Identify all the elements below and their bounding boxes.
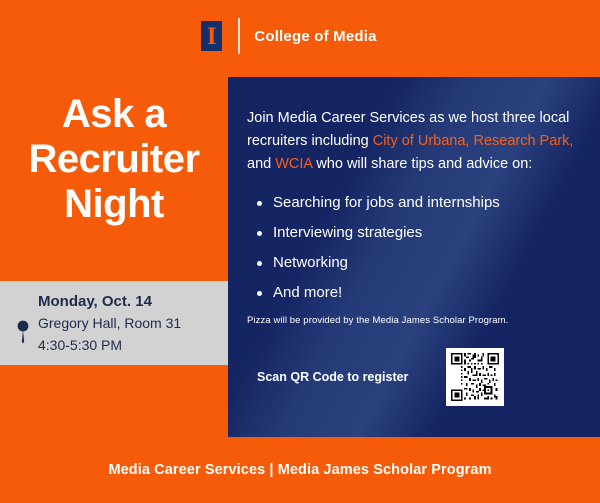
- qr-row: Scan QR Code to register: [247, 348, 580, 406]
- map-pin-icon: [12, 302, 34, 344]
- list-item: Interviewing strategies: [273, 225, 580, 240]
- intro-part-2: and: [247, 156, 275, 172]
- recruiter-highlight-2: WCIA: [275, 156, 312, 172]
- page-title: Ask aRecruiterNight: [0, 92, 228, 226]
- header-divider: [238, 18, 240, 54]
- footer-text: Media Career Services | Media James Scho…: [108, 462, 491, 478]
- headline-line-1: Ask a: [0, 92, 228, 137]
- event-details-box: Monday, Oct. 14 Gregory Hall, Room 31 4:…: [0, 281, 228, 365]
- scan-qr-label: Scan QR Code to register: [257, 370, 408, 384]
- list-item: And more!: [273, 285, 580, 300]
- list-item: Networking: [273, 255, 580, 270]
- event-time: 4:30-5:30 PM: [38, 335, 181, 357]
- topics-list: Searching for jobs and internships Inter…: [247, 195, 580, 300]
- headline-line-2: Recruiter: [0, 137, 228, 182]
- brand-lockup: I College of Media: [199, 18, 376, 54]
- intro-part-3: who will share tips and advice on:: [312, 156, 532, 172]
- recruiter-highlight-1: City of Urbana, Research Park,: [373, 133, 574, 149]
- list-item: Searching for jobs and internships: [273, 195, 580, 210]
- poster-footer: Media Career Services | Media James Scho…: [0, 437, 600, 503]
- event-date: Monday, Oct. 14: [38, 290, 181, 313]
- block-i-glyph: I: [207, 24, 217, 49]
- event-poster: I College of Media Ask aRecruiterNight M…: [0, 0, 600, 503]
- event-location: Gregory Hall, Room 31: [38, 313, 181, 335]
- poster-header: I College of Media: [0, 0, 600, 72]
- qr-code-icon[interactable]: [446, 348, 504, 406]
- event-details-text: Monday, Oct. 14 Gregory Hall, Room 31 4:…: [34, 290, 181, 357]
- panel-intro-text: Join Media Career Services as we host th…: [247, 107, 580, 177]
- headline-line-3: Night: [0, 182, 228, 227]
- panel-content: Join Media Career Services as we host th…: [228, 77, 600, 406]
- college-name: College of Media: [254, 28, 376, 45]
- illinois-block-i-icon: I: [199, 19, 224, 53]
- info-panel: Join Media Career Services as we host th…: [228, 77, 600, 437]
- pizza-note: Pizza will be provided by the Media Jame…: [247, 315, 580, 326]
